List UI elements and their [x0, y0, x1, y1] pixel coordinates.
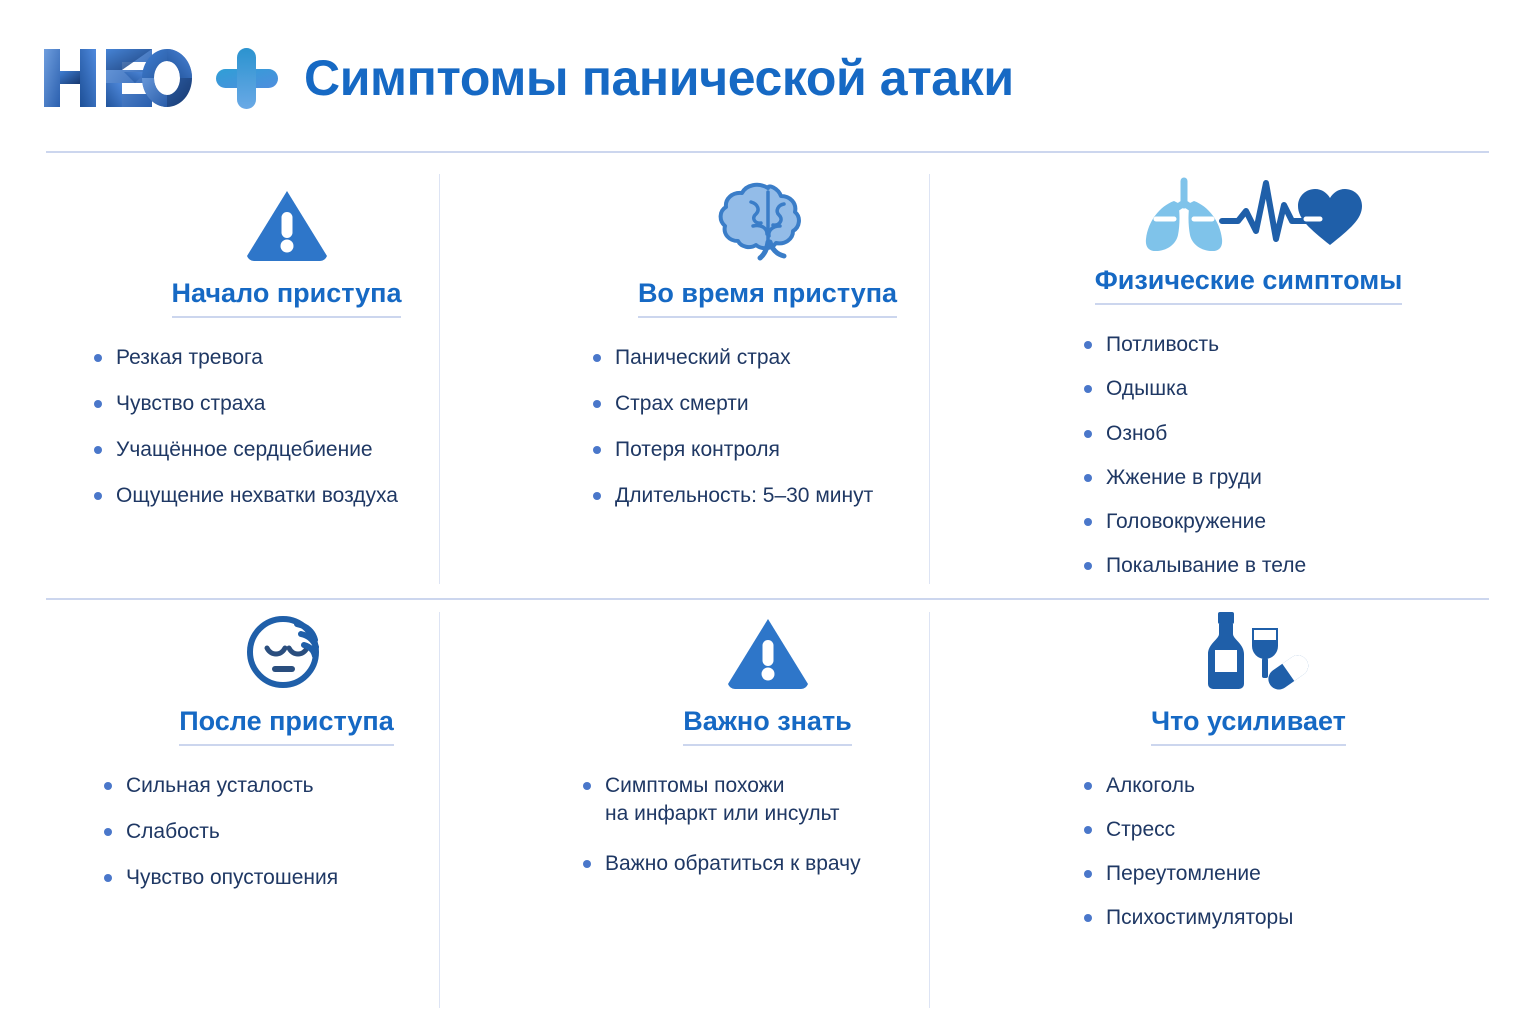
list-item-label: Покалывание в теле: [1106, 552, 1306, 580]
bullet-dot-icon: [94, 354, 102, 362]
cards-row-top: Начало приступа Резкая тревога Чувство с…: [46, 172, 1489, 596]
bullet-dot-icon: [1084, 474, 1092, 482]
bullet-dot-icon: [104, 782, 112, 790]
bullet-dot-icon: [1084, 826, 1092, 834]
list-item-label: Потливость: [1106, 331, 1219, 359]
heo-plus-logo: [40, 41, 282, 115]
brain-icon: [718, 172, 818, 264]
list-item: Переутомление: [1084, 860, 1293, 888]
card-heading: После приступа: [179, 706, 394, 737]
bullet-dot-icon: [593, 492, 601, 500]
heading-underline: [683, 744, 852, 746]
bullet-dot-icon: [94, 400, 102, 408]
list-item: Резкая тревога: [94, 344, 398, 372]
list-item: Страх смерти: [593, 390, 873, 418]
card-heading: Во время приступа: [638, 278, 897, 309]
list-item: Ощущение нехватки воздуха: [94, 482, 398, 510]
list-item: Покалывание в теле: [1084, 552, 1306, 580]
bullet-dot-icon: [1084, 430, 1092, 438]
list-item-label: Алкоголь: [1106, 772, 1195, 800]
list-item-label: Сильная усталость: [126, 772, 314, 800]
bullet-list: Алкоголь Стресс Переутомление Психостиму…: [1084, 772, 1293, 949]
card-heading-wrap: Во время приступа: [638, 278, 897, 318]
bullet-dot-icon: [104, 874, 112, 882]
list-item: Чувство страха: [94, 390, 398, 418]
heading-underline: [1095, 303, 1403, 305]
list-item-label: Длительность: 5–30 минут: [615, 482, 873, 510]
heading-underline: [1151, 744, 1346, 746]
bullet-list: Симптомы похожи на инфаркт или инсульт В…: [583, 772, 861, 900]
list-item-label: Жжение в груди: [1106, 464, 1262, 492]
infographic-page: Симптомы панической атаки Начало прис: [0, 0, 1536, 1024]
list-item-label: Чувство опустошения: [126, 864, 338, 892]
bullet-dot-icon: [593, 354, 601, 362]
bullet-list: Панический страх Страх смерти Потеря кон…: [593, 344, 873, 529]
list-item: Длительность: 5–30 минут: [593, 482, 873, 510]
list-item: Алкоголь: [1084, 772, 1293, 800]
cards-row-bottom: После приступа Сильная усталость Слабост…: [46, 600, 1489, 1010]
heading-underline: [179, 744, 394, 746]
card-attack-onset: Начало приступа Резкая тревога Чувство с…: [46, 172, 527, 596]
card-heading-wrap: Важно знать: [683, 706, 852, 746]
header: Симптомы панической атаки: [0, 0, 1536, 152]
list-item: Чувство опустошения: [104, 864, 338, 892]
card-heading: Что усиливает: [1151, 706, 1346, 737]
card-heading-wrap: После приступа: [179, 706, 394, 746]
card-physical-symptoms: Физические симптомы Потливость Одышка Оз…: [1008, 172, 1489, 596]
card-heading: Важно знать: [683, 706, 852, 737]
card-after-attack: После приступа Сильная усталость Слабост…: [46, 600, 527, 1010]
list-item-label: Озноб: [1106, 420, 1167, 448]
cards-grid: Начало приступа Резкая тревога Чувство с…: [0, 152, 1536, 1024]
lungs-heartbeat-heart-icon: [1134, 172, 1364, 251]
card-important-to-know: Важно знать Симптомы похожи на инфаркт и…: [527, 600, 1008, 1010]
list-item-label: Чувство страха: [116, 390, 265, 418]
list-item: Психостимуляторы: [1084, 904, 1293, 932]
bullet-dot-icon: [1084, 341, 1092, 349]
bullet-dot-icon: [1084, 518, 1092, 526]
list-item-label: Переутомление: [1106, 860, 1261, 888]
list-item: Озноб: [1084, 420, 1306, 448]
bullet-list: Резкая тревога Чувство страха Учащённое …: [94, 344, 398, 529]
list-item: Жжение в груди: [1084, 464, 1306, 492]
list-item-label: Стресс: [1106, 816, 1175, 844]
bullet-dot-icon: [593, 400, 601, 408]
list-item: Сильная усталость: [104, 772, 338, 800]
list-item: Головокружение: [1084, 508, 1306, 536]
list-item-label: Слабость: [126, 818, 220, 846]
card-heading: Начало приступа: [172, 278, 402, 309]
card-heading-wrap: Что усиливает: [1151, 706, 1346, 746]
list-item-label: Важно обратиться к врачу: [605, 850, 861, 878]
warning-triangle-icon: [244, 172, 330, 264]
bullet-list: Потливость Одышка Озноб Жжение в груди: [1084, 331, 1306, 596]
card-during-attack: Во время приступа Панический страх Страх…: [527, 172, 1008, 596]
bullet-dot-icon: [583, 782, 591, 790]
list-item: Симптомы похожи на инфаркт или инсульт: [583, 772, 861, 828]
bullet-dot-icon: [94, 492, 102, 500]
card-heading-wrap: Начало приступа: [172, 278, 402, 318]
list-item-label: Учащённое сердцебиение: [116, 436, 373, 464]
list-item-label: Головокружение: [1106, 508, 1266, 536]
list-item: Стресс: [1084, 816, 1293, 844]
list-item-label: Психостимуляторы: [1106, 904, 1293, 932]
list-item: Учащённое сердцебиение: [94, 436, 398, 464]
bullet-dot-icon: [583, 860, 591, 868]
list-item-label: Страх смерти: [615, 390, 749, 418]
heading-underline: [638, 316, 897, 318]
list-item: Панический страх: [593, 344, 873, 372]
list-item-label: Резкая тревога: [116, 344, 263, 372]
bottle-glass-pill-icon: [1188, 600, 1310, 692]
bullet-dot-icon: [94, 446, 102, 454]
list-item: Одышка: [1084, 375, 1306, 403]
list-item-label: Одышка: [1106, 375, 1187, 403]
list-item-label: Ощущение нехватки воздуха: [116, 482, 398, 510]
card-heading-wrap: Физические симптомы: [1095, 265, 1403, 305]
list-item: Важно обратиться к врачу: [583, 850, 861, 878]
bullet-list: Сильная усталость Слабость Чувство опуст…: [104, 772, 338, 910]
bullet-dot-icon: [1084, 385, 1092, 393]
bullet-dot-icon: [1084, 782, 1092, 790]
list-item-label: Потеря контроля: [615, 436, 780, 464]
bullet-dot-icon: [1084, 914, 1092, 922]
list-item: Слабость: [104, 818, 338, 846]
heading-underline: [172, 316, 402, 318]
tired-face-icon: [241, 600, 333, 692]
bullet-dot-icon: [104, 828, 112, 836]
bullet-dot-icon: [1084, 562, 1092, 570]
list-item: Потливость: [1084, 331, 1306, 359]
bullet-dot-icon: [1084, 870, 1092, 878]
bullet-dot-icon: [593, 446, 601, 454]
list-item-label: Симптомы похожи на инфаркт или инсульт: [605, 772, 840, 828]
card-what-intensifies: Что усиливает Алкоголь Стресс Переутомле…: [1008, 600, 1489, 1010]
list-item-label: Панический страх: [615, 344, 791, 372]
list-item: Потеря контроля: [593, 436, 873, 464]
card-heading: Физические симптомы: [1095, 265, 1403, 296]
page-title: Симптомы панической атаки: [304, 53, 1014, 103]
warning-triangle-icon: [725, 600, 811, 692]
